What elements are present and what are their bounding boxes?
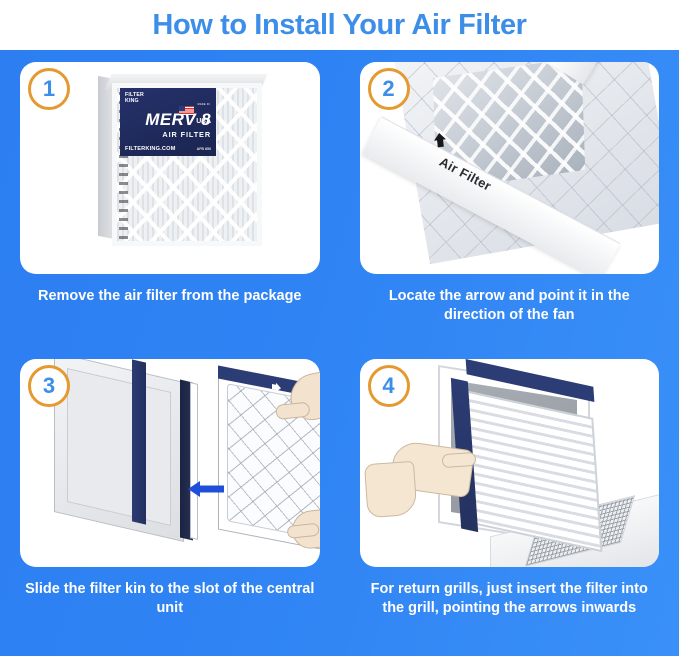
filter-direction-arrow-icon [618, 446, 631, 460]
usa-flag-icon [179, 106, 194, 115]
step-2-number: 2 [382, 78, 394, 100]
step-1-card: 1 FILTER [20, 62, 320, 274]
thumb [441, 452, 476, 468]
filter-direction-arrow-icon [270, 378, 283, 390]
insertion-arrow-icon [188, 479, 224, 499]
header: How to Install Your Air Filter [0, 0, 679, 50]
infographic-root: How to Install Your Air Filter 1 [0, 0, 679, 656]
air-filter-subtitle: AIR FILTER [125, 130, 211, 139]
made-in-text: MADE IN [198, 103, 210, 106]
step-1-caption: Remove the air filter from the package [20, 287, 320, 306]
hand-holding-grill [389, 440, 475, 499]
step-4-caption: For return grills, just insert the filte… [360, 580, 660, 619]
step-1-number: 1 [43, 78, 55, 100]
merv-rating: MERV 8 [125, 111, 211, 128]
step-2-caption: Locate the arrow and point it in the dir… [360, 287, 660, 326]
step-3-caption: Slide the filter kin to the slot of the … [20, 580, 320, 619]
central-unit-inner-panel [67, 368, 171, 526]
step-3-number: 3 [43, 375, 55, 397]
brand-line-2: KING [125, 98, 144, 104]
step-2-card: 2 Air Filter [360, 62, 660, 274]
sku-code: AFB 850 [197, 147, 211, 151]
page-title: How to Install Your Air Filter [152, 9, 526, 42]
filter-label: FILTER KING MADE IN USA [120, 88, 216, 156]
step-1-badge: 1 [28, 68, 70, 110]
filter-slot-lip [190, 382, 198, 540]
step-3-badge: 3 [28, 365, 70, 407]
step-1: 1 FILTER [0, 50, 340, 347]
filter-label-top-row: FILTER KING MADE IN USA [125, 92, 211, 106]
step-4-card: 4 [360, 359, 660, 567]
step-3-card: 3 [20, 359, 320, 567]
step-4: 4 [340, 347, 679, 656]
filter-king-logo: FILTER KING [125, 92, 144, 105]
air-filter-product: FILTER KING MADE IN USA [98, 74, 266, 246]
step-3: 3 [0, 347, 340, 656]
central-unit-housing [54, 359, 184, 542]
hand-upper [286, 364, 319, 424]
step-4-badge: 4 [368, 365, 410, 407]
step-2-badge: 2 [368, 68, 410, 110]
step-2: 2 Air Filter Locate the arrow and point … [340, 50, 679, 347]
filter-navy-side-frame [132, 359, 146, 524]
step-4-number: 4 [382, 375, 394, 397]
steps-grid: 1 FILTER [0, 50, 679, 656]
brand-website: FILTERKING.COM [125, 146, 176, 152]
filter-label-bottom-row: FILTERKING.COM AFB 850 [125, 146, 211, 152]
